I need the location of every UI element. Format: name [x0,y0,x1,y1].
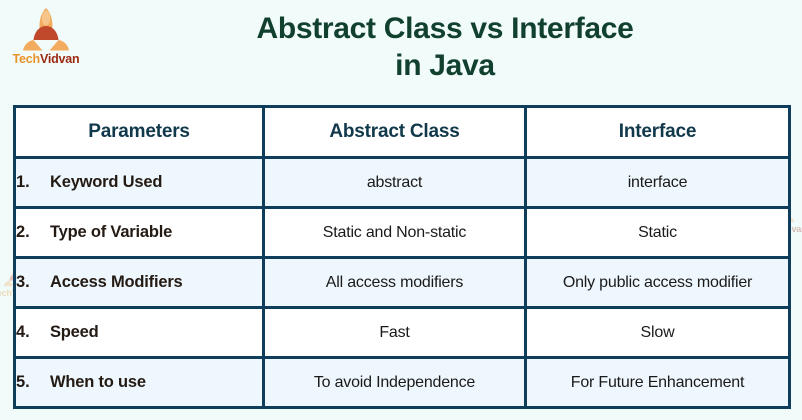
parameter-label: Type of Variable [50,223,172,241]
interface-value: For Future Enhancement [526,358,790,408]
table-header-row: Parameters Abstract Class Interface [15,107,790,158]
row-index: 4. [16,323,50,342]
parameter-cell: 3.Access Modifiers [15,258,264,308]
interface-value: Only public access modifier [526,258,790,308]
abstract-class-value: Static and Non-static [264,208,526,258]
interface-value: interface [526,158,790,208]
table-row: 4.Speed Fast Slow [15,308,790,358]
brand-wordmark: TechVidvan [8,52,84,66]
parameter-cell: 2.Type of Variable [15,208,264,258]
parameter-label: When to use [50,373,146,391]
page-title-line1: Abstract Class vs Interface [100,10,790,47]
brand-logo: TechVidvan [8,6,84,76]
column-header-abstract-class: Abstract Class [264,107,526,158]
interface-value: Slow [526,308,790,358]
table-row: 2.Type of Variable Static and Non-static… [15,208,790,258]
parameter-label: Access Modifiers [50,273,183,291]
page-title: Abstract Class vs Interface in Java [100,10,790,84]
meditating-figure-icon [20,6,72,54]
row-index: 5. [16,373,50,392]
parameter-label: Speed [50,323,99,341]
row-index: 3. [16,273,50,292]
abstract-class-value: Fast [264,308,526,358]
abstract-class-value: abstract [264,158,526,208]
table-row: 5.When to use To avoid Independence For … [15,358,790,408]
row-index: 1. [16,173,50,192]
table-row: 1.Keyword Used abstract interface [15,158,790,208]
parameter-cell: 5.When to use [15,358,264,408]
table-header: Parameters Abstract Class Interface [15,107,790,158]
interface-value: Static [526,208,790,258]
parameter-cell: 1.Keyword Used [15,158,264,208]
parameter-label: Keyword Used [50,173,162,191]
row-index: 2. [16,223,50,242]
column-header-parameters: Parameters [15,107,264,158]
parameter-cell: 4.Speed [15,308,264,358]
abstract-class-value: To avoid Independence [264,358,526,408]
table-row: 3.Access Modifiers All access modifiers … [15,258,790,308]
abstract-class-value: All access modifiers [264,258,526,308]
comparison-table: Parameters Abstract Class Interface 1.Ke… [13,105,791,409]
page-title-line2: in Java [100,47,790,84]
column-header-interface: Interface [526,107,790,158]
table-body: 1.Keyword Used abstract interface 2.Type… [15,158,790,408]
